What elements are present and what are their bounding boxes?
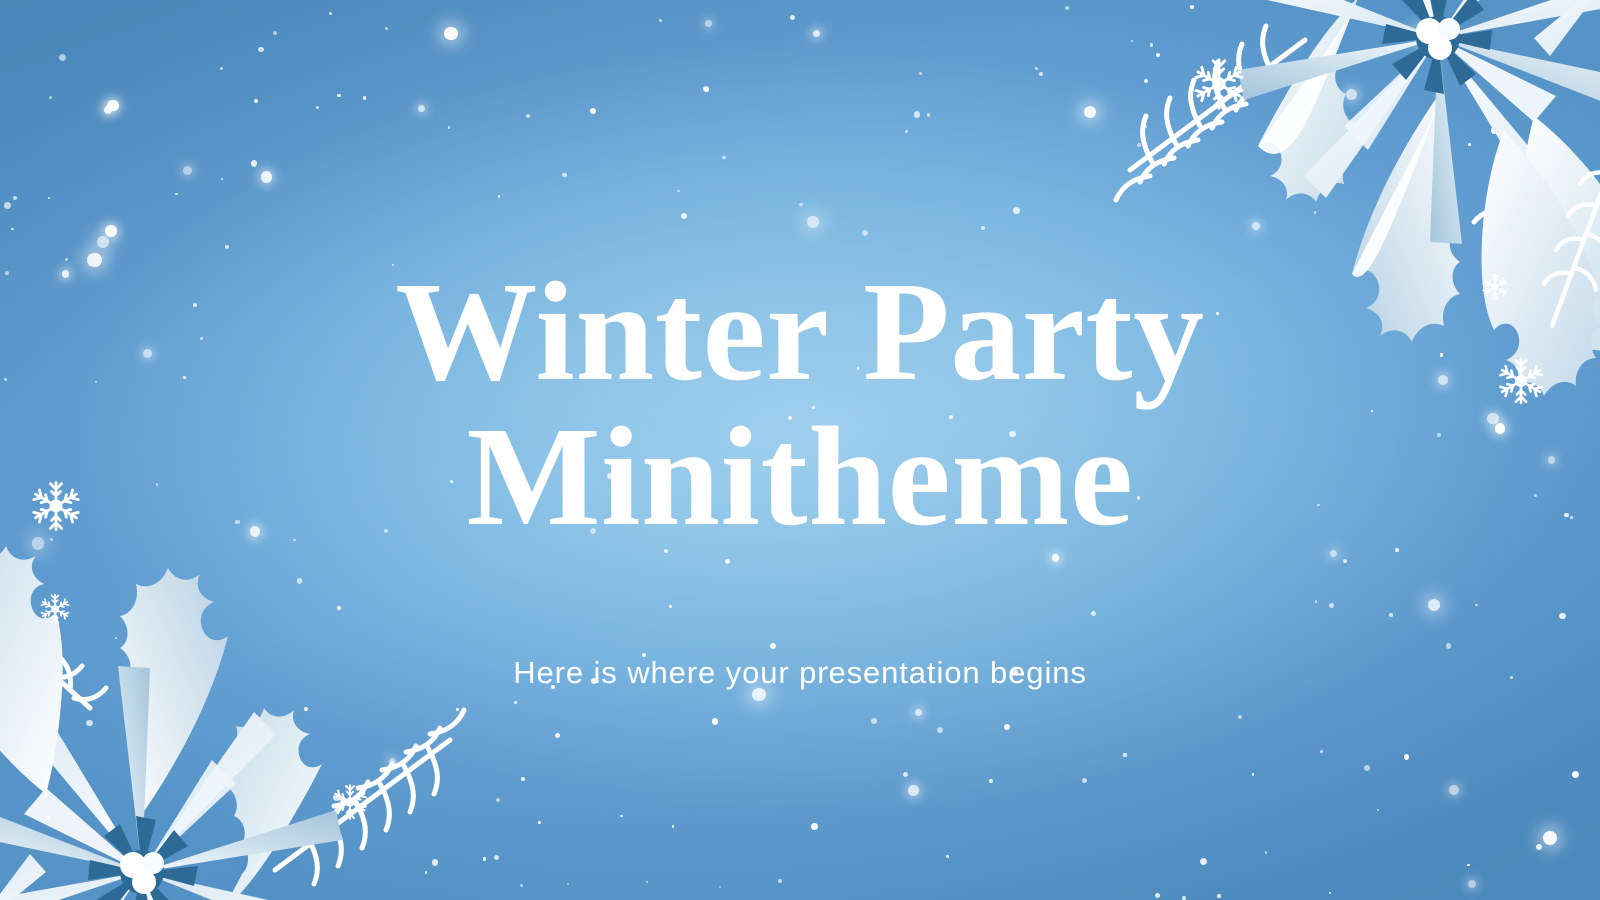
presentation-slide: Winter Party Minitheme Here is where you… bbox=[0, 0, 1600, 900]
slide-subtitle: Here is where your presentation begins bbox=[513, 655, 1087, 691]
slide-content: Winter Party Minitheme Here is where you… bbox=[0, 0, 1600, 900]
page-title: Winter Party Minitheme bbox=[260, 259, 1340, 549]
